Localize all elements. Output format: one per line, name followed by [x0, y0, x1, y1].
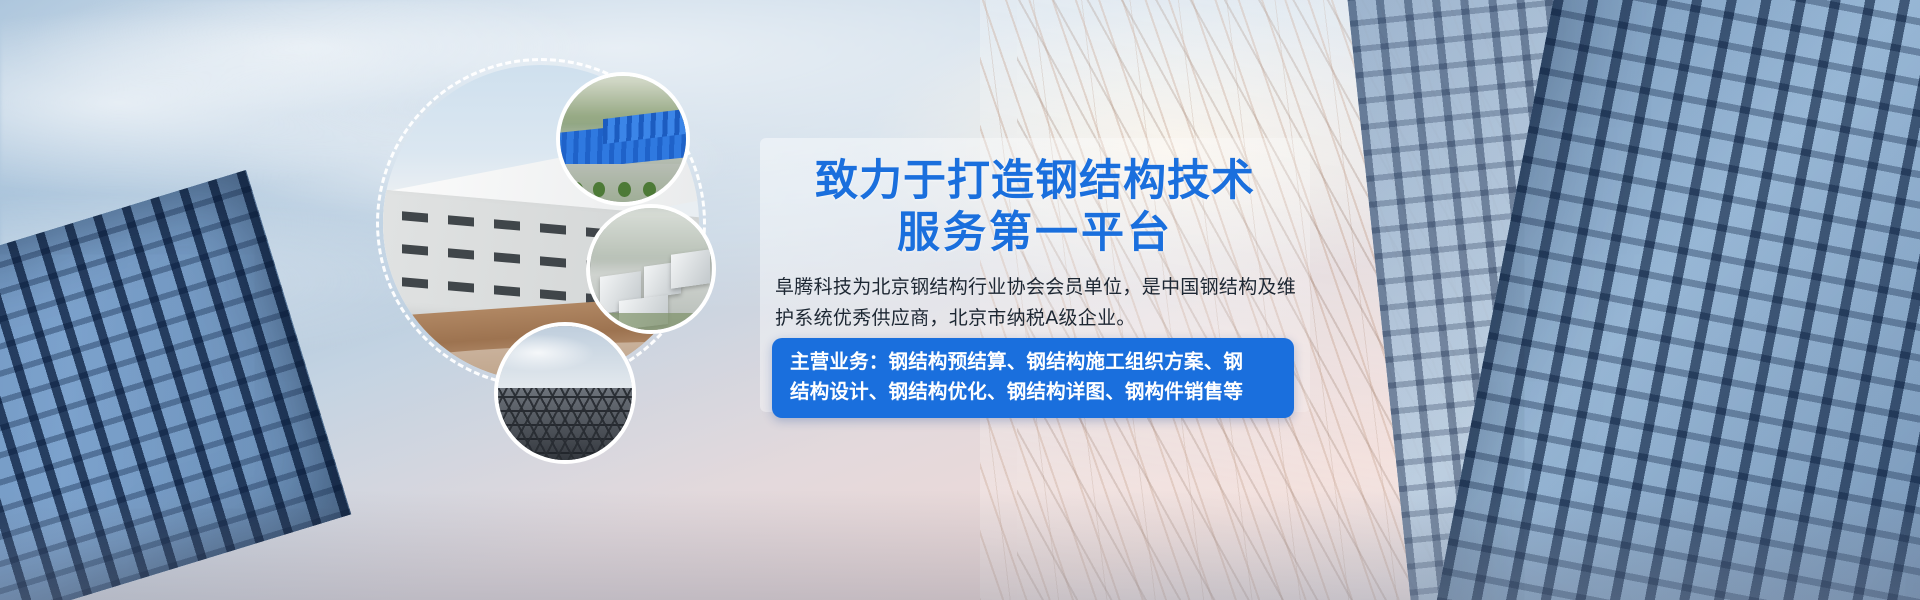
ground-shade [0, 490, 1920, 600]
tree [570, 182, 583, 197]
description-line-1: 阜腾科技为北京钢结构行业协会会员单位，是中国钢结构及维 [775, 272, 1305, 303]
steel-space-frame-truss-photo [494, 322, 636, 464]
space-frame-structure [494, 388, 636, 464]
tree [618, 182, 631, 197]
tree [643, 182, 656, 197]
business-line-1: 主营业务：钢结构预结算、钢结构施工组织方案、钢 [790, 347, 1280, 377]
photo-sky [498, 326, 632, 393]
headline-line-1: 致力于打造钢结构技术 [760, 155, 1310, 207]
aerial-blue-roof-factory-photo [556, 72, 690, 206]
office-block [671, 249, 710, 289]
headline-line-2: 服务第一平台 [760, 207, 1310, 259]
description: 阜腾科技为北京钢结构行业协会会员单位，是中国钢结构及维 护系统优秀供应商，北京市… [775, 272, 1305, 334]
business-line-2: 结构设计、钢结构优化、钢结构详图、钢构件销售等 [790, 377, 1280, 407]
business-scope-box[interactable]: 主营业务：钢结构预结算、钢结构施工组织方案、钢 结构设计、钢结构优化、钢结构详图… [772, 338, 1294, 418]
description-line-2: 护系统优秀供应商，北京市纳税A级企业。 [775, 303, 1305, 334]
headline: 致力于打造钢结构技术 服务第一平台 [760, 155, 1310, 259]
photo-collage [370, 50, 790, 480]
promo-banner: 致力于打造钢结构技术 服务第一平台 阜腾科技为北京钢结构行业协会会员单位，是中国… [0, 0, 1920, 600]
aerial-office-complex-photo [586, 204, 716, 334]
